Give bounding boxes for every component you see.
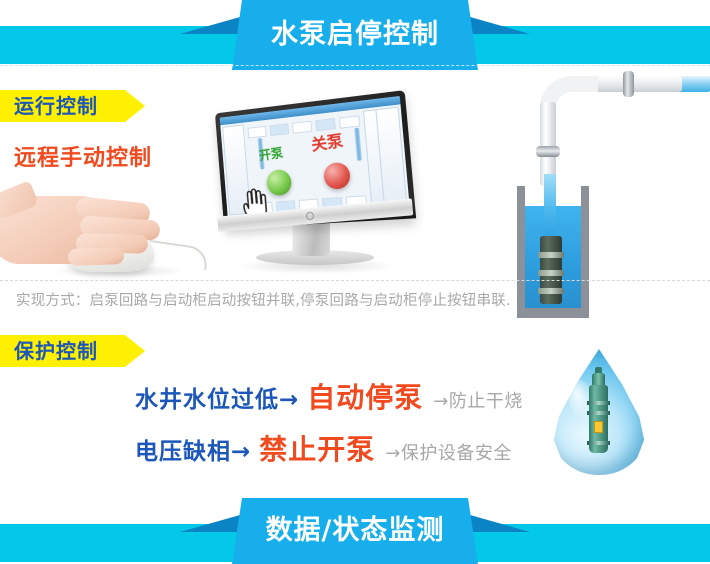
pipe-flange — [623, 71, 634, 97]
banner-ribbon: 数据/状态监测 — [232, 498, 478, 564]
monitor-screen: 开泵 关泵 — [220, 96, 410, 217]
protection-condition: 电压缺相→ — [135, 432, 251, 466]
start-pump-screen-label: 开泵 — [258, 147, 284, 163]
promo-page: 水泵启停控制 运行控制 远程手动控制 — [0, 0, 710, 564]
bottom-banner: 数据/状态监测 — [0, 494, 710, 564]
tag-protection-control-label: 保护控制 — [14, 341, 98, 361]
scada-pipe — [354, 128, 362, 161]
pump-band — [587, 441, 610, 445]
protection-action: 自动停泵 — [307, 376, 423, 416]
pump-band — [538, 270, 564, 276]
monitor-logo — [306, 212, 314, 220]
banner-ribbon: 水泵启停控制 — [232, 0, 478, 70]
bottom-banner-title: 数据/状态监测 — [266, 517, 445, 546]
scada-cell — [339, 115, 360, 128]
start-pump-button[interactable] — [266, 169, 293, 196]
pump-band — [538, 252, 564, 258]
protection-condition: 水井水位过低→ — [135, 380, 299, 414]
scada-cell — [292, 121, 312, 134]
hand-on-mouse-image — [0, 170, 209, 280]
pipe-horizontal — [590, 76, 682, 92]
stop-pump-button[interactable] — [323, 162, 351, 190]
top-banner-title: 水泵启停控制 — [271, 21, 439, 50]
water-drop-illustration — [545, 345, 655, 485]
implementation-note: 实现方式：启泵回路与启动柜启动按钮并联,停泵回路与启动柜停止按钮串联. — [16, 289, 511, 310]
tag-run-control-label: 运行控制 — [14, 96, 98, 116]
protection-result: →保护设备安全 — [385, 439, 512, 465]
tag-run-control: 运行控制 — [0, 90, 145, 122]
pump-band — [587, 411, 610, 415]
protection-rule-row: 水井水位过低→ 自动停泵 →防止干烧 — [135, 376, 523, 416]
pipe-flange — [536, 146, 560, 157]
scada-cell — [269, 123, 289, 136]
scada-interface: 开泵 关泵 — [220, 96, 410, 217]
protection-action: 禁止开泵 — [259, 428, 375, 468]
hand-finger — [68, 247, 125, 266]
well-suction-stream — [544, 174, 556, 236]
pump-band — [538, 288, 564, 294]
remote-manual-control-text: 远程手动控制 — [14, 140, 152, 172]
pump-band — [587, 401, 610, 405]
scada-cell — [315, 118, 336, 131]
scada-cell — [248, 126, 267, 139]
pump-label-tag — [594, 421, 603, 433]
stop-pump-screen-label: 关泵 — [310, 133, 344, 154]
divider-middle — [0, 280, 710, 281]
protection-rule-row: 电压缺相→ 禁止开泵 →保护设备安全 — [135, 428, 512, 468]
well-pump-illustration — [490, 58, 710, 276]
protection-result: →防止干烧 — [433, 387, 523, 413]
desktop-monitor: 开泵 关泵 — [208, 100, 418, 275]
tag-protection-control: 保护控制 — [0, 335, 145, 367]
